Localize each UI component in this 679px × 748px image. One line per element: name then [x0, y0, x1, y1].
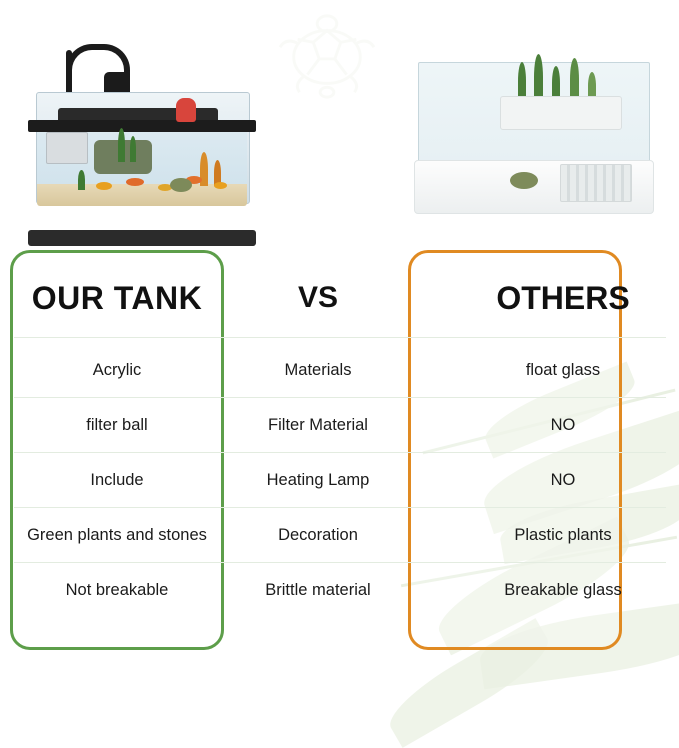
- cell-feature: Heating Lamp: [228, 471, 408, 490]
- tank-ramp: [560, 164, 632, 202]
- tank-fish: [126, 178, 144, 186]
- row-divider: [14, 507, 666, 508]
- tank-plant: [78, 170, 85, 190]
- comparison-table: OUR TANK VS OTHERS Acrylic Materials flo…: [0, 240, 679, 660]
- cell-ours: filter ball: [10, 416, 224, 435]
- tank-filter-box: [46, 132, 88, 164]
- cell-others: NO: [456, 416, 670, 435]
- basking-platform: [500, 96, 622, 130]
- row-divider: [14, 337, 666, 338]
- tank-plant: [130, 136, 136, 162]
- cell-ours: Include: [10, 471, 224, 490]
- table-row: Include Heating Lamp NO: [10, 455, 670, 505]
- cell-ours: Not breakable: [10, 581, 224, 600]
- plastic-plant: [534, 54, 543, 100]
- row-divider: [14, 397, 666, 398]
- cell-others: Plastic plants: [456, 526, 670, 545]
- tank-turtle: [510, 172, 538, 189]
- cell-feature: Materials: [228, 361, 408, 380]
- table-row: Green plants and stones Decoration Plast…: [10, 510, 670, 560]
- table-row: Acrylic Materials float glass: [10, 345, 670, 395]
- others-tank-photo: [410, 52, 660, 227]
- cell-others: NO: [456, 471, 670, 490]
- cell-ours: Acrylic: [10, 361, 224, 380]
- cell-others: Breakable glass: [456, 581, 670, 600]
- plastic-plant: [570, 58, 579, 100]
- plastic-plant: [518, 62, 526, 100]
- cell-feature: Brittle material: [228, 581, 408, 600]
- table-row: Not breakable Brittle material Breakable…: [10, 565, 670, 615]
- tank-fish: [96, 182, 112, 190]
- row-divider: [14, 562, 666, 563]
- plastic-plant: [552, 66, 560, 100]
- our-tank-photo: [18, 32, 268, 227]
- tank-fish: [214, 182, 227, 189]
- tank-turtle: [170, 178, 192, 192]
- cell-feature: Decoration: [228, 526, 408, 545]
- tank-figurine: [176, 98, 196, 122]
- product-photo-strip: [0, 0, 679, 240]
- cell-others: float glass: [456, 361, 670, 380]
- tank-plant: [118, 128, 125, 162]
- tank-lid: [28, 120, 256, 132]
- cell-ours: Green plants and stones: [10, 526, 224, 545]
- comparison-rows: Acrylic Materials float glass filter bal…: [0, 240, 679, 660]
- table-row: filter ball Filter Material NO: [10, 400, 670, 450]
- cell-feature: Filter Material: [228, 416, 408, 435]
- row-divider: [14, 452, 666, 453]
